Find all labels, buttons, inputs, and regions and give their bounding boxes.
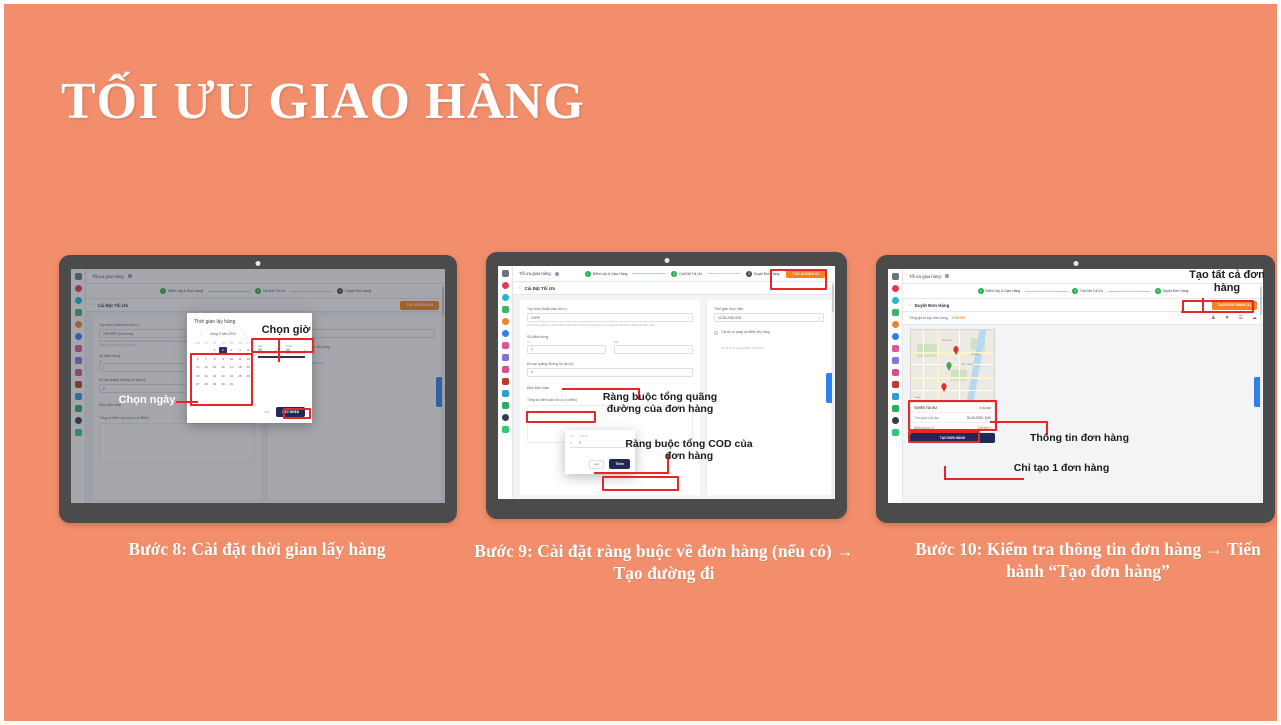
step-label: Điểm Lấy & Giao Hàng: [593, 272, 628, 276]
prev-month-button[interactable]: ‹: [201, 332, 202, 336]
calendar-day-grid[interactable]: 1234567891011121314151617181920212223242…: [194, 347, 252, 389]
section-title: Duyệt Đơn Hàng: [915, 303, 950, 308]
stops-from-input[interactable]: 1: [527, 345, 606, 354]
summary-bar-3: Tổng giá trị các đơn hàng đ 49.000 ♟ ▼ ☰…: [903, 312, 1263, 325]
max-distance-input[interactable]: 0: [527, 368, 693, 377]
map-road-v1: [937, 330, 939, 401]
calendar-day[interactable]: 5: [245, 347, 252, 355]
step-item-1[interactable]: 1 Điểm Lấy & Giao Hàng: [978, 288, 1021, 294]
calendar-day[interactable]: 17: [228, 364, 235, 372]
step-bubble: 1: [978, 288, 984, 294]
sidebar-icon-orders[interactable]: [502, 294, 509, 301]
calendar-day[interactable]: 27: [194, 381, 201, 389]
calendar-day[interactable]: 10: [228, 355, 235, 363]
sidebar-icon-dashboard[interactable]: [892, 285, 899, 292]
total-value-amount: đ 49.000: [952, 316, 965, 320]
map-attribution: Google: [913, 397, 922, 399]
calendar[interactable]: ‹ tháng 9 năm 2020 › CNT2T3T4T5T6T7 1234…: [194, 332, 252, 388]
sidebar-icon-tracking[interactable]: [892, 333, 899, 340]
route-price: đ 49.000: [979, 406, 991, 410]
algorithm-hint: Với số lượng điểm ≤ 100 và điểm xuất phá…: [527, 324, 693, 328]
order-card-header: TUYẾN TỐI ƯU đ 49.000: [911, 403, 994, 413]
toolbar-icons: ♟ ▼ ☰ ☁: [1211, 315, 1257, 321]
time-separator: :: [281, 348, 282, 354]
create-route-button[interactable]: TẠO ĐƯỜNG ĐI: [786, 269, 825, 278]
step-label: Điểm Lấy & Giao Hàng: [986, 289, 1021, 293]
step-bubble: 2: [1072, 288, 1078, 294]
calendar-day[interactable]: 23: [219, 372, 226, 380]
calendar-day[interactable]: 29: [211, 381, 218, 389]
camera-dot: [256, 261, 261, 266]
annotation-choose-time: Chọn giờ: [251, 324, 321, 337]
start-time-label: Thời gian bắt đầu: [914, 416, 939, 420]
route-name: TUYẾN TỐI ƯU: [914, 406, 937, 410]
calendar-day[interactable]: 15: [211, 364, 218, 372]
download-icon[interactable]: ☁: [1252, 315, 1257, 321]
map-park-1: [917, 344, 937, 357]
sidebar-icon-customers[interactable]: [502, 342, 509, 349]
subbar-3: ‹ Duyệt Đơn Hàng TẠO ĐƠN HÀNG (1): [903, 299, 1263, 312]
tablet-device-step9: Tối ưu giao hàng 1 Điểm Lấy & Giao Hàng …: [486, 252, 847, 519]
popover-value-label: Giá trị: [580, 435, 587, 439]
step-bubble: 3: [746, 271, 752, 277]
sidebar-icon-drivers[interactable]: [502, 354, 509, 361]
sidebar-rail-3[interactable]: [888, 269, 903, 503]
calendar-weekday: T3: [211, 339, 218, 347]
calendar-day[interactable]: 21: [202, 372, 209, 380]
stops-to-input[interactable]: ›: [614, 345, 693, 354]
calendar-day[interactable]: 18: [236, 364, 243, 372]
popover-value: 0: [580, 441, 582, 445]
exec-time-input[interactable]: 02-09-2020 8:00 ×: [714, 313, 824, 322]
max-distance-value: 0: [531, 370, 533, 374]
calendar-blank: [202, 347, 209, 355]
step-label: Cài Đặt Tối Ưu: [679, 272, 702, 276]
calendar-day[interactable]: 25: [236, 372, 243, 380]
clear-button[interactable]: Xoá: [264, 410, 269, 414]
stops-from-value: 1: [531, 347, 533, 351]
vertical-scrollbar-2[interactable]: [832, 282, 834, 497]
map-label-3: BẾN THÀNH: [961, 364, 973, 366]
annotation-create-all: Tạo tất cả đơn hàng: [1181, 269, 1273, 295]
chevron-down-icon: ›: [688, 316, 689, 320]
back-arrow-icon[interactable]: ‹: [519, 286, 521, 291]
calendar-weekday: T6: [236, 339, 243, 347]
create-single-order-button[interactable]: TẠO ĐƠN HÀNG: [910, 433, 995, 443]
sidebar-icon-routes[interactable]: [502, 318, 509, 325]
tablet-device-step10: Tối ưu giao hàng 1 Điểm Lấy & Giao Hàng …: [876, 255, 1275, 523]
step-item-2[interactable]: 2 Cài Đặt Tối Ưu: [1072, 288, 1103, 294]
calendar-day[interactable]: 16: [219, 364, 226, 372]
start-time-value: 02-09-2020, 8:00: [967, 416, 991, 420]
sidebar-icon-menu[interactable]: [502, 270, 509, 277]
calendar-day[interactable]: 22: [211, 372, 218, 380]
return-depot-hint: Tất cả xe sẽ quay về điểm khởi hành: [721, 347, 764, 350]
vertical-scrollbar-3[interactable]: [1260, 285, 1262, 501]
annotation-order-info: Thông tin đơn hàng: [1012, 432, 1147, 444]
minute-value: 00: [286, 348, 290, 352]
caption-step9: Bước 9: Cài đặt ràng buộc về đơn hàng (n…: [474, 540, 854, 585]
calendar-day[interactable]: 12: [245, 355, 252, 363]
calendar-weekday: T7: [245, 339, 252, 347]
sidebar-icon-tracking[interactable]: [502, 330, 509, 337]
time-picker[interactable]: Giờ 08 ▾ : Phút: [258, 332, 305, 388]
sidebar-icon-analytics[interactable]: [502, 378, 509, 385]
stops-to-label: Đến: [614, 341, 693, 345]
calendar-day[interactable]: 4: [236, 347, 243, 355]
hour-value: 08: [258, 348, 262, 352]
sidebar-icon-settings[interactable]: [892, 405, 899, 412]
camera-dot: [664, 258, 669, 263]
calendar-day[interactable]: 13: [194, 364, 201, 372]
calendar-weekday: T5: [228, 339, 235, 347]
hour-chevron-icon[interactable]: ▾: [276, 348, 278, 352]
sidebar-icon-customers[interactable]: [892, 345, 899, 352]
step-connector: [1025, 291, 1067, 292]
annotation-total-cod: Ràng buộc tổng COD của đơn hàng: [624, 438, 754, 463]
annotation-choose-time-line: [278, 340, 280, 362]
caption-step10: Bước 10: Kiểm tra thông tin đơn hàng → T…: [902, 538, 1274, 583]
calendar-weekday: T4: [219, 339, 226, 347]
route-map[interactable]: PHƯỜNG XÃ KIẾN BẾN THÀNH Google: [910, 329, 995, 401]
step-item-3[interactable]: 3 Duyệt Đơn Hàng: [746, 271, 779, 277]
caption-step8: Bước 8: Cài đặt thời gian lấy hàng: [96, 538, 418, 560]
sidebar-icon-reports[interactable]: [502, 366, 509, 373]
calendar-day[interactable]: 9: [219, 355, 226, 363]
stops-label: Số điểm dừng: [527, 335, 693, 339]
annotation-order-info-leader-h: [990, 421, 1047, 423]
sidebar-icon-mobile[interactable]: [502, 426, 509, 433]
return-depot-label: Tất cả xe quay lại điểm lấy hàng: [721, 330, 770, 334]
order-card[interactable]: TUYẾN TỐI ƯU đ 49.000 Thời gian bắt đầu …: [910, 402, 995, 433]
calendar-day[interactable]: 30: [219, 381, 226, 389]
step-label: Duyệt Đơn Hàng: [754, 272, 779, 276]
sidebar-icon-orders[interactable]: [892, 297, 899, 304]
order-card-time-row: Thời gian bắt đầu 02-09-2020, 8:00: [911, 413, 994, 423]
calendar-day[interactable]: 3: [228, 347, 235, 355]
algorithm-label: Tùy chọn thuật toán tối ưu: [527, 307, 693, 311]
calendar-weekday: CN: [194, 339, 201, 347]
calendar-day[interactable]: 8: [211, 355, 218, 363]
list-icon[interactable]: ☰: [1239, 315, 1243, 321]
popover-from-label: Từ: [570, 435, 573, 439]
calendar-blank: [194, 347, 201, 355]
total-value-label: Tổng giá trị các đơn hàng: [909, 316, 948, 320]
sidebar-icon-warehouse[interactable]: [502, 306, 509, 313]
screen-step8: Tối ưu giao hàng 1 Điểm Lấy & Giao Hàng …: [71, 269, 445, 503]
map-label-2: XÃ KIẾN: [971, 354, 979, 356]
annotation-create-one-leader-h: [944, 478, 1024, 480]
sidebar-rail-2[interactable]: [498, 266, 513, 499]
step-bubble: 1: [585, 271, 591, 277]
back-arrow-icon[interactable]: ‹: [909, 303, 911, 308]
sidebar-icon-drivers[interactable]: [892, 357, 899, 364]
calendar-day[interactable]: 6: [194, 355, 201, 363]
subbar-2: ‹ Cài Đặt Tối Ưu: [513, 282, 835, 295]
clear-date-icon[interactable]: ×: [818, 316, 820, 320]
app-window-1: Tối ưu giao hàng 1 Điểm Lấy & Giao Hàng …: [71, 269, 445, 503]
map-road-v3: [923, 330, 924, 401]
annotation-total-distance-leader-h: [562, 388, 639, 390]
annotation-create-one: Chỉ tạo 1 đơn hàng: [994, 462, 1129, 474]
exec-time-label: Thời gian thực hiện: [714, 307, 824, 311]
annotation-create-one-leader-v: [944, 466, 946, 479]
step-connector: [632, 273, 666, 274]
create-orders-button[interactable]: TẠO ĐƠN HÀNG (1): [1212, 301, 1257, 310]
slide: TỐI ƯU GIAO HÀNG: [4, 4, 1277, 721]
calendar-day[interactable]: 11: [236, 355, 243, 363]
step-bubble: 3: [1155, 288, 1161, 294]
calendar-day[interactable]: 2: [219, 347, 226, 355]
sidebar-icon-analytics[interactable]: [892, 381, 899, 388]
step-item-2[interactable]: 2 Cài Đặt Tối Ưu: [671, 271, 702, 277]
sidebar-icon-settings[interactable]: [502, 402, 509, 409]
stops-count-label: Điểm dừng (2): [914, 426, 935, 430]
calendar-day[interactable]: 24: [228, 372, 235, 380]
filter-icon[interactable]: ▼: [1225, 315, 1230, 321]
topbar-2: Tối ưu giao hàng 1 Điểm Lấy & Giao Hàng …: [513, 266, 835, 282]
app-title: Tối ưu giao hàng: [909, 274, 941, 279]
sidebar-icon-dashboard[interactable]: [502, 282, 509, 289]
step-bubble: 2: [671, 271, 677, 277]
help-icon[interactable]: [555, 272, 559, 276]
calendar-day[interactable]: 7: [202, 355, 209, 363]
return-depot-checkbox[interactable]: [714, 331, 718, 335]
calendar-day[interactable]: 20: [194, 372, 201, 380]
stops-detail-link[interactable]: Chi tiết ▾: [978, 426, 991, 430]
step-connector: [707, 273, 741, 274]
stops-from-label: Từ: [527, 341, 606, 345]
map-road-v2: [959, 330, 960, 401]
map-label-1: PHƯỜNG: [942, 340, 952, 342]
annotation-total-distance: Ràng buộc tổng quãng đường của đơn hàng: [595, 391, 725, 416]
annotation-create-all-leader-h: [1181, 311, 1204, 313]
help-icon[interactable]: [945, 274, 949, 278]
sidebar-icon-mobile[interactable]: [892, 429, 899, 436]
confirm-button[interactable]: XÁC NHẬN: [276, 407, 305, 417]
calendar-nav: ‹ tháng 9 năm 2020 ›: [194, 332, 252, 336]
step-progress-2: 1 Điểm Lấy & Giao Hàng 2 Cài Đặt Tối Ưu …: [585, 271, 780, 277]
tablet-device-step8: Tối ưu giao hàng 1 Điểm Lấy & Giao Hàng …: [59, 255, 457, 523]
max-distance-label: Độ dài quãng đường tối đa (m): [527, 362, 693, 366]
annotation-choose-date: Chọn ngày: [108, 394, 186, 407]
algorithm-value: CVRP: [531, 316, 540, 320]
calendar-month-label: tháng 9 năm 2020: [210, 332, 236, 336]
minute-chevron-icon[interactable]: ▾: [304, 348, 306, 352]
calendar-weekday-row: CNT2T3T4T5T6T7: [194, 339, 252, 347]
calendar-weekday: T2: [202, 339, 209, 347]
app-title: Tối ưu giao hàng: [519, 271, 551, 276]
algorithm-select[interactable]: CVRP ›: [527, 313, 693, 322]
step-connector: [1108, 291, 1150, 292]
annotation-total-cod-leader-h: [594, 472, 669, 474]
next-month-button[interactable]: ›: [244, 332, 245, 336]
sidebar-icon-support[interactable]: [892, 417, 899, 424]
chevron-down-icon: ›: [688, 347, 689, 351]
order-card-stops-row: Điểm dừng (2) Chi tiết ▾: [911, 423, 994, 432]
sidebar-icon-reports[interactable]: [892, 369, 899, 376]
calendar-day[interactable]: 19: [245, 364, 252, 372]
time-scroll-indicator: [258, 356, 305, 358]
sidebar-icon-finance[interactable]: [502, 390, 509, 397]
calendar-day[interactable]: 26: [245, 372, 252, 380]
step-label: Cài Đặt Tối Ưu: [1080, 289, 1103, 293]
calendar-day[interactable]: 31: [228, 381, 235, 389]
page-title: TỐI ƯU GIAO HÀNG: [61, 72, 585, 131]
popover-divider: [570, 447, 630, 448]
calendar-day[interactable]: 28: [202, 381, 209, 389]
sidebar-icon-menu[interactable]: [892, 273, 899, 280]
step-item-1[interactable]: 1 Điểm Lấy & Giao Hàng: [585, 271, 628, 277]
sidebar-icon-routes[interactable]: [892, 321, 899, 328]
calendar-day[interactable]: 1: [211, 347, 218, 355]
popover-cancel-button[interactable]: Huỷ: [589, 460, 604, 469]
sidebar-icon-warehouse[interactable]: [892, 309, 899, 316]
sidebar-icon-support[interactable]: [502, 414, 509, 421]
exec-time-value: 02-09-2020 8:00: [718, 316, 741, 320]
calendar-day[interactable]: 14: [202, 364, 209, 372]
person-icon[interactable]: ♟: [1211, 315, 1215, 321]
section-title: Cài Đặt Tối Ưu: [525, 286, 555, 291]
sidebar-icon-finance[interactable]: [892, 393, 899, 400]
popover-chevron-icon[interactable]: ▾: [570, 441, 572, 445]
camera-dot: [1073, 261, 1078, 266]
